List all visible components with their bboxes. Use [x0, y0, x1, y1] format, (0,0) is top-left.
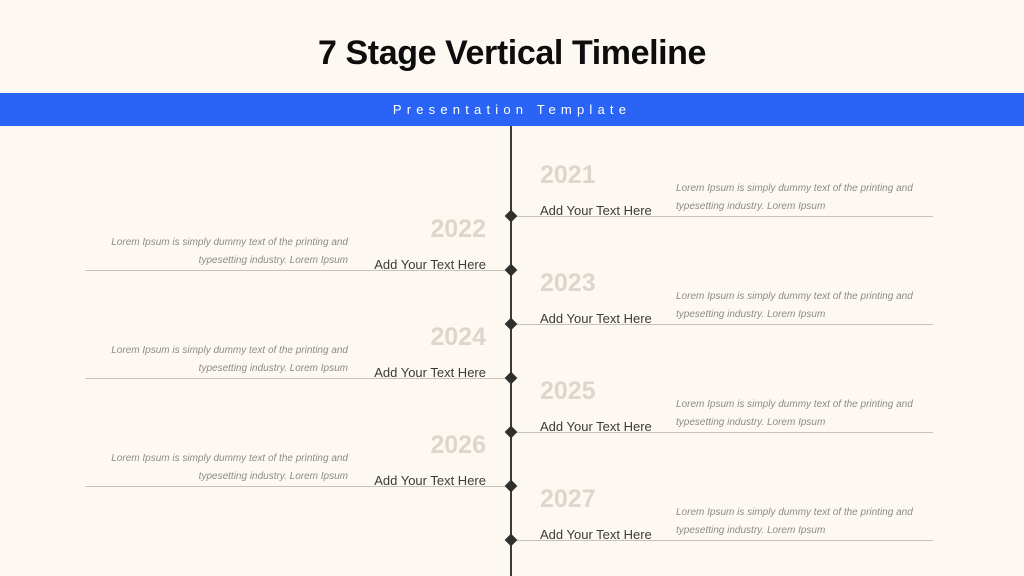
timeline-entry-year: 2023	[540, 271, 652, 296]
timeline-node-marker[interactable]	[505, 318, 518, 331]
timeline-entry-label[interactable]: Add Your Text Here	[374, 258, 486, 271]
timeline-axis	[510, 126, 512, 576]
subtitle-band: Presentation Template	[0, 93, 1024, 126]
timeline-node-marker[interactable]	[505, 264, 518, 277]
timeline-entry-description[interactable]: Lorem Ipsum is simply dummy text of the …	[676, 180, 938, 215]
timeline-entry-description[interactable]: Lorem Ipsum is simply dummy text of the …	[86, 234, 348, 269]
timeline-entry[interactable]: 2027Add Your Text HereLorem Ipsum is sim…	[540, 487, 652, 541]
timeline-entry[interactable]: 2025Add Your Text HereLorem Ipsum is sim…	[540, 379, 652, 433]
timeline-entry[interactable]: 2022Add Your Text HereLorem Ipsum is sim…	[374, 217, 486, 271]
timeline-entry-year: 2022	[374, 217, 486, 242]
timeline-entry-year: 2024	[374, 325, 486, 350]
timeline-diagram: 2021Add Your Text HereLorem Ipsum is sim…	[0, 126, 1024, 576]
timeline-entry-label[interactable]: Add Your Text Here	[374, 366, 486, 379]
timeline-entry[interactable]: 2024Add Your Text HereLorem Ipsum is sim…	[374, 325, 486, 379]
timeline-entry-year: 2026	[374, 433, 486, 458]
timeline-entry-description[interactable]: Lorem Ipsum is simply dummy text of the …	[86, 450, 348, 485]
timeline-node-marker[interactable]	[505, 210, 518, 223]
timeline-entry-year: 2021	[540, 163, 652, 188]
timeline-entry-label[interactable]: Add Your Text Here	[540, 420, 652, 433]
slide-title: 7 Stage Vertical Timeline	[0, 34, 1024, 73]
subtitle-text: Presentation Template	[393, 102, 631, 117]
timeline-entry-year: 2025	[540, 379, 652, 404]
timeline-entry-label[interactable]: Add Your Text Here	[374, 474, 486, 487]
timeline-entry[interactable]: 2026Add Your Text HereLorem Ipsum is sim…	[374, 433, 486, 487]
timeline-node-marker[interactable]	[505, 534, 518, 547]
timeline-node-marker[interactable]	[505, 480, 518, 493]
timeline-node-marker[interactable]	[505, 372, 518, 385]
timeline-entry-description[interactable]: Lorem Ipsum is simply dummy text of the …	[676, 396, 938, 431]
timeline-entry-label[interactable]: Add Your Text Here	[540, 528, 652, 541]
timeline-entry-year: 2027	[540, 487, 652, 512]
timeline-entry[interactable]: 2023Add Your Text HereLorem Ipsum is sim…	[540, 271, 652, 325]
timeline-entry-description[interactable]: Lorem Ipsum is simply dummy text of the …	[86, 342, 348, 377]
timeline-entry-description[interactable]: Lorem Ipsum is simply dummy text of the …	[676, 288, 938, 323]
timeline-node-marker[interactable]	[505, 426, 518, 439]
timeline-entry-label[interactable]: Add Your Text Here	[540, 204, 652, 217]
timeline-entry[interactable]: 2021Add Your Text HereLorem Ipsum is sim…	[540, 163, 652, 217]
timeline-entry-label[interactable]: Add Your Text Here	[540, 312, 652, 325]
timeline-entry-description[interactable]: Lorem Ipsum is simply dummy text of the …	[676, 504, 938, 539]
